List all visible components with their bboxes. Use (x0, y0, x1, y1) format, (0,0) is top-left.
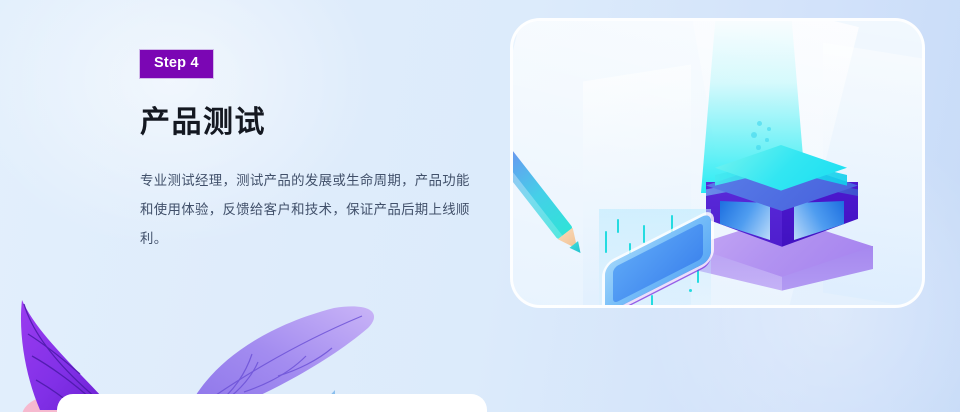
small-blue-shape (315, 390, 335, 412)
bottom-decoration-group (0, 292, 520, 412)
isometric-platform (513, 21, 925, 308)
purple-leaf-icon (10, 298, 160, 412)
step-text-column: Step 4 产品测试 专业测试经理，测试产品的发展或生命周期，产品功能和使用体… (140, 50, 490, 253)
section-description: 专业测试经理，测试产品的发展或生命周期，产品功能和使用体验，反馈给客户和技术，保… (140, 166, 480, 253)
white-rounded-card (57, 394, 487, 412)
page-root: Step 4 产品测试 专业测试经理，测试产品的发展或生命周期，产品功能和使用体… (0, 0, 960, 412)
page-title: 产品测试 (140, 106, 490, 139)
illustration-canvas (513, 21, 922, 305)
step-badge: Step 4 (140, 50, 213, 78)
purple-feather-icon (186, 306, 386, 412)
pink-circle (22, 394, 100, 412)
illustration-card (510, 18, 925, 308)
